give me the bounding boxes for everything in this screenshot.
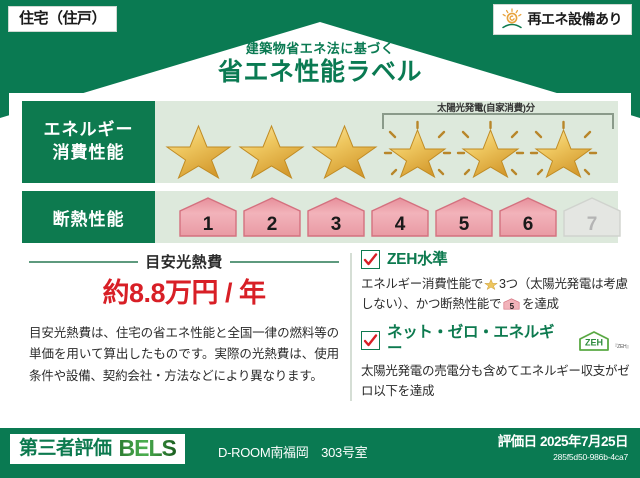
title-main: 省エネ性能ラベル: [0, 57, 640, 88]
star-5-solar: [455, 120, 526, 180]
insulation-level-number: 1: [177, 215, 239, 234]
energy-stars-area: 太陽光発電(自家消費)分: [155, 101, 618, 183]
insulation-level-6: 6: [497, 195, 559, 239]
insulation-level-7: 7: [561, 195, 623, 239]
evaluation-info: 評価日 2025年7月25日 285f5d50-986b-4ca7: [498, 434, 628, 462]
divider-left: [29, 261, 138, 263]
utility-cost-note: 目安光熱費は、住宅の省エネ性能と全国一律の燃料等の単価を用いて算出したものです。…: [29, 323, 339, 388]
star-sparkle-icon: [455, 120, 526, 180]
star-6-solar: [528, 120, 599, 180]
insulation-level-2: 2: [241, 195, 303, 239]
inline-house-chip: 5: [503, 296, 520, 312]
insulation-level-3: 3: [305, 195, 367, 239]
insulation-level-5: 5: [433, 195, 495, 239]
evaluation-date: 評価日 2025年7月25日: [498, 434, 628, 450]
star-sparkle-icon: [382, 120, 453, 180]
zeh-house-icon: ZEH 『ZEH』: [577, 330, 631, 352]
checkbox-checked: [361, 331, 380, 350]
badge-renewable-equipment: 再エネ設備あり: [493, 4, 633, 35]
sun-renewable-icon: [500, 8, 524, 30]
check-net-zero-title: ネット・ゼロ・エネルギー: [387, 325, 567, 356]
main-card: エネルギー 消費性能 太陽光発電(自家消費)分: [9, 93, 631, 423]
zeh-desc-part-b: を達成: [522, 297, 559, 311]
bels-en-label: BELS: [119, 437, 176, 460]
energy-label-line1: エネルギー: [44, 119, 134, 142]
insulation-chips-area: 1 2 3: [155, 191, 618, 243]
zeh-logo-sub: 『ZEH』: [612, 343, 631, 352]
star-icon: [163, 120, 234, 180]
star-rating: [163, 120, 599, 180]
bels-jp-label: 第三者評価: [19, 439, 112, 458]
check-zeh-standard-desc: エネルギー消費性能で3つ（太陽光発電は考慮しない）、かつ断熱性能で5を達成: [361, 274, 631, 314]
badge-housing-type-label: 住宅（住戸）: [19, 10, 106, 27]
check-zeh-standard-title: ZEH水準: [387, 252, 448, 268]
vertical-divider: [350, 253, 352, 401]
energy-performance-row: エネルギー 消費性能 太陽光発電(自家消費)分: [22, 101, 618, 183]
check-zeh-standard: ZEH水準 エネルギー消費性能で3つ（太陽光発電は考慮しない）、かつ断熱性能で5…: [361, 250, 631, 314]
inline-chip-number: 5: [503, 303, 520, 311]
check-icon: [362, 251, 379, 268]
badge-renewable-label: 再エネ設備あり: [528, 12, 623, 26]
star-sparkle-icon: [528, 120, 599, 180]
insulation-level-4: 4: [369, 195, 431, 239]
star-icon: [236, 120, 307, 180]
star-3: [309, 120, 380, 180]
insulation-label-box: 断熱性能: [22, 191, 155, 243]
utility-cost-heading-text: 目安光熱費: [145, 251, 223, 272]
check-net-zero-desc: 太陽光発電の売電分も含めてエネルギー収支がゼロ以下を達成: [361, 361, 631, 401]
insulation-level-number: 4: [369, 215, 431, 234]
energy-performance-label-box: エネルギー 消費性能: [22, 101, 155, 183]
star-icon: [309, 120, 380, 180]
title-subtitle: 建築物省エネ法に基づく: [0, 42, 640, 56]
star-icon-inline: [484, 277, 498, 291]
zeh-desc-part-a: エネルギー消費性能で: [361, 277, 483, 291]
check-net-zero-energy: ネット・ゼロ・エネルギー ZEH 『ZEH』 太陽光発電の売電分も含めてエネルギ…: [361, 325, 631, 401]
svg-text:ZEH: ZEH: [585, 337, 603, 347]
utility-cost-heading: 目安光熱費: [29, 251, 339, 272]
check-zeh-standard-head: ZEH水準: [361, 250, 631, 269]
solar-bracket-label: 太陽光発電(自家消費)分: [366, 100, 606, 114]
bels-logo-box: 第三者評価 BELS: [10, 434, 185, 464]
checkbox-checked: [361, 250, 380, 269]
insulation-level-number: 2: [241, 215, 303, 234]
evaluation-id: 285f5d50-986b-4ca7: [498, 452, 628, 462]
energy-performance-label: 住宅（住戸） 再エネ設備あり 建築物省エネ法に基づく 省エネ性能ラベル エネルギ…: [0, 0, 640, 478]
utility-cost-value: 約8.8万円 / 年: [29, 279, 339, 309]
insulation-level-number: 5: [433, 215, 495, 234]
check-icon: [362, 332, 379, 349]
zeh-house-logo: ZEH: [577, 330, 611, 352]
energy-label-line2: 消費性能: [53, 142, 125, 165]
badge-housing-type: 住宅（住戸）: [8, 6, 117, 32]
property-room-name: D-ROOM南福岡 303号室: [218, 442, 367, 461]
insulation-level-number: 3: [305, 215, 367, 234]
certification-checks: ZEH水準 エネルギー消費性能で3つ（太陽光発電は考慮しない）、かつ断熱性能で5…: [361, 250, 631, 412]
footer-bar: 第三者評価 BELS D-ROOM南福岡 303号室 評価日 2025年7月25…: [0, 428, 640, 478]
title-block: 建築物省エネ法に基づく 省エネ性能ラベル: [0, 42, 640, 89]
insulation-level-number: 6: [497, 215, 559, 234]
utility-cost-block: 目安光熱費 約8.8万円 / 年 目安光熱費は、住宅の省エネ性能と全国一律の燃料…: [29, 251, 339, 387]
divider-right: [230, 261, 339, 263]
insulation-scale: 1 2 3: [177, 195, 623, 239]
star-4-solar: [382, 120, 453, 180]
star-1: [163, 120, 234, 180]
star-2: [236, 120, 307, 180]
insulation-level-number: 7: [561, 215, 623, 234]
insulation-performance-row: 断熱性能 1: [22, 191, 618, 243]
check-net-zero-head: ネット・ゼロ・エネルギー ZEH 『ZEH』: [361, 325, 631, 356]
insulation-label: 断熱性能: [53, 205, 125, 230]
insulation-level-1: 1: [177, 195, 239, 239]
